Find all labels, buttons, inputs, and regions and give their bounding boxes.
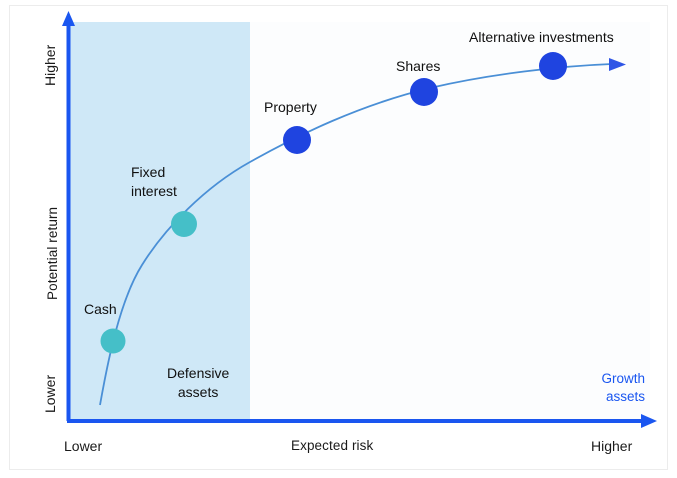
y-axis-tick-lower: Lower [42,375,58,413]
label-shares: Shares [396,57,440,76]
data-point-cash[interactable] [101,329,126,354]
label-property: Property [264,98,317,117]
label-growth-assets-line1: Growth [601,371,645,386]
label-growth-assets: Growth assets [560,370,645,406]
y-axis-tick-higher: Higher [42,45,58,86]
y-axis-arrowhead [62,11,75,26]
label-fixed-interest: Fixed interest [131,163,177,201]
growth-assets-region [250,22,650,420]
label-defensive-assets-line1: Defensive [167,365,229,381]
label-fixed-interest-line2: interest [131,183,177,199]
x-axis-title: Expected risk [291,438,373,453]
data-point-property[interactable] [283,126,311,154]
defensive-assets-region [69,22,250,420]
data-point-fixed-interest[interactable] [171,211,197,237]
data-point-shares[interactable] [410,78,438,106]
x-axis-tick-higher: Higher [591,438,632,454]
label-alternative-investments: Alternative investments [469,28,614,47]
label-growth-assets-line2: assets [606,389,645,404]
data-point-alternative-investments[interactable] [539,52,567,80]
label-cash: Cash [84,300,117,319]
risk-return-chart [0,0,677,478]
label-fixed-interest-line1: Fixed [131,164,165,180]
y-axis-title: Potential return [45,207,60,300]
label-defensive-assets: Defensive assets [167,364,229,402]
label-defensive-assets-line2: assets [178,384,218,400]
x-axis-tick-lower: Lower [64,438,102,454]
